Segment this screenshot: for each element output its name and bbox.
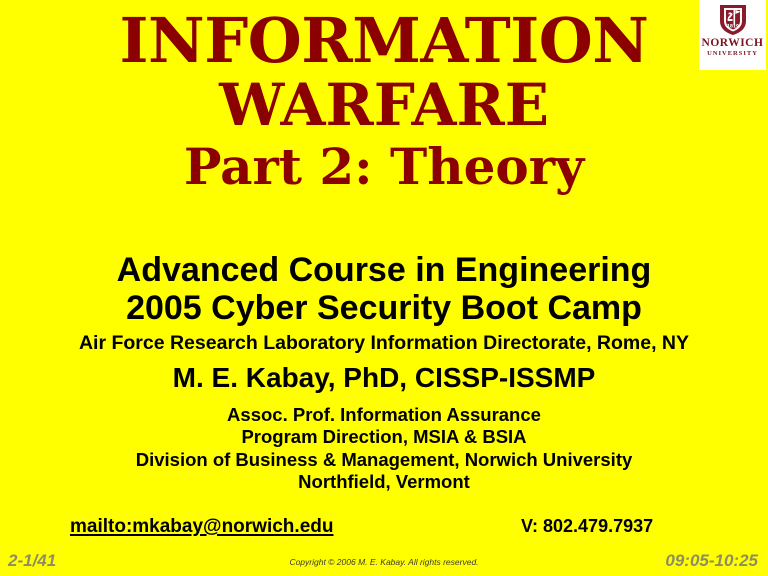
affiliation-line: Division of Business & Management, Norwi… [0,449,768,472]
affiliation-line: Program Direction, MSIA & BSIA [0,426,768,449]
title-block: INFORMATION WARFARE Part 2: Theory [0,10,768,192]
slide-title-line-1: INFORMATION [0,10,768,72]
contact-row: mailto:mkabay@norwich.edu V: 802.479.793… [0,516,768,542]
slide-title-line-2: WARFARE [0,76,768,134]
phone-number: V: 802.479.7937 [521,516,653,537]
venue-line: Air Force Research Laboratory Informatio… [0,333,768,354]
course-name-line-1: Advanced Course in Engineering [0,252,768,289]
affiliation-line: Northfield, Vermont [0,471,768,494]
copyright-notice: Copyright © 2006 M. E. Kabay. All rights… [0,557,768,567]
author-affiliation-block: Assoc. Prof. Information Assurance Progr… [0,404,768,494]
affiliation-line: Assoc. Prof. Information Assurance [0,404,768,427]
slide-subtitle-part: Part 2: Theory [0,142,768,192]
author-name: M. E. Kabay, PhD, CISSP-ISSMP [0,363,768,393]
slide-canvas: 1819 NORWICH UNIVERSITY INFORMATION WARF… [0,0,768,576]
course-name-line-2: 2005 Cyber Security Boot Camp [0,290,768,327]
body-block: Advanced Course in Engineering 2005 Cybe… [0,252,768,494]
email-mailto-link[interactable]: mailto:mkabay@norwich.edu [70,516,333,538]
